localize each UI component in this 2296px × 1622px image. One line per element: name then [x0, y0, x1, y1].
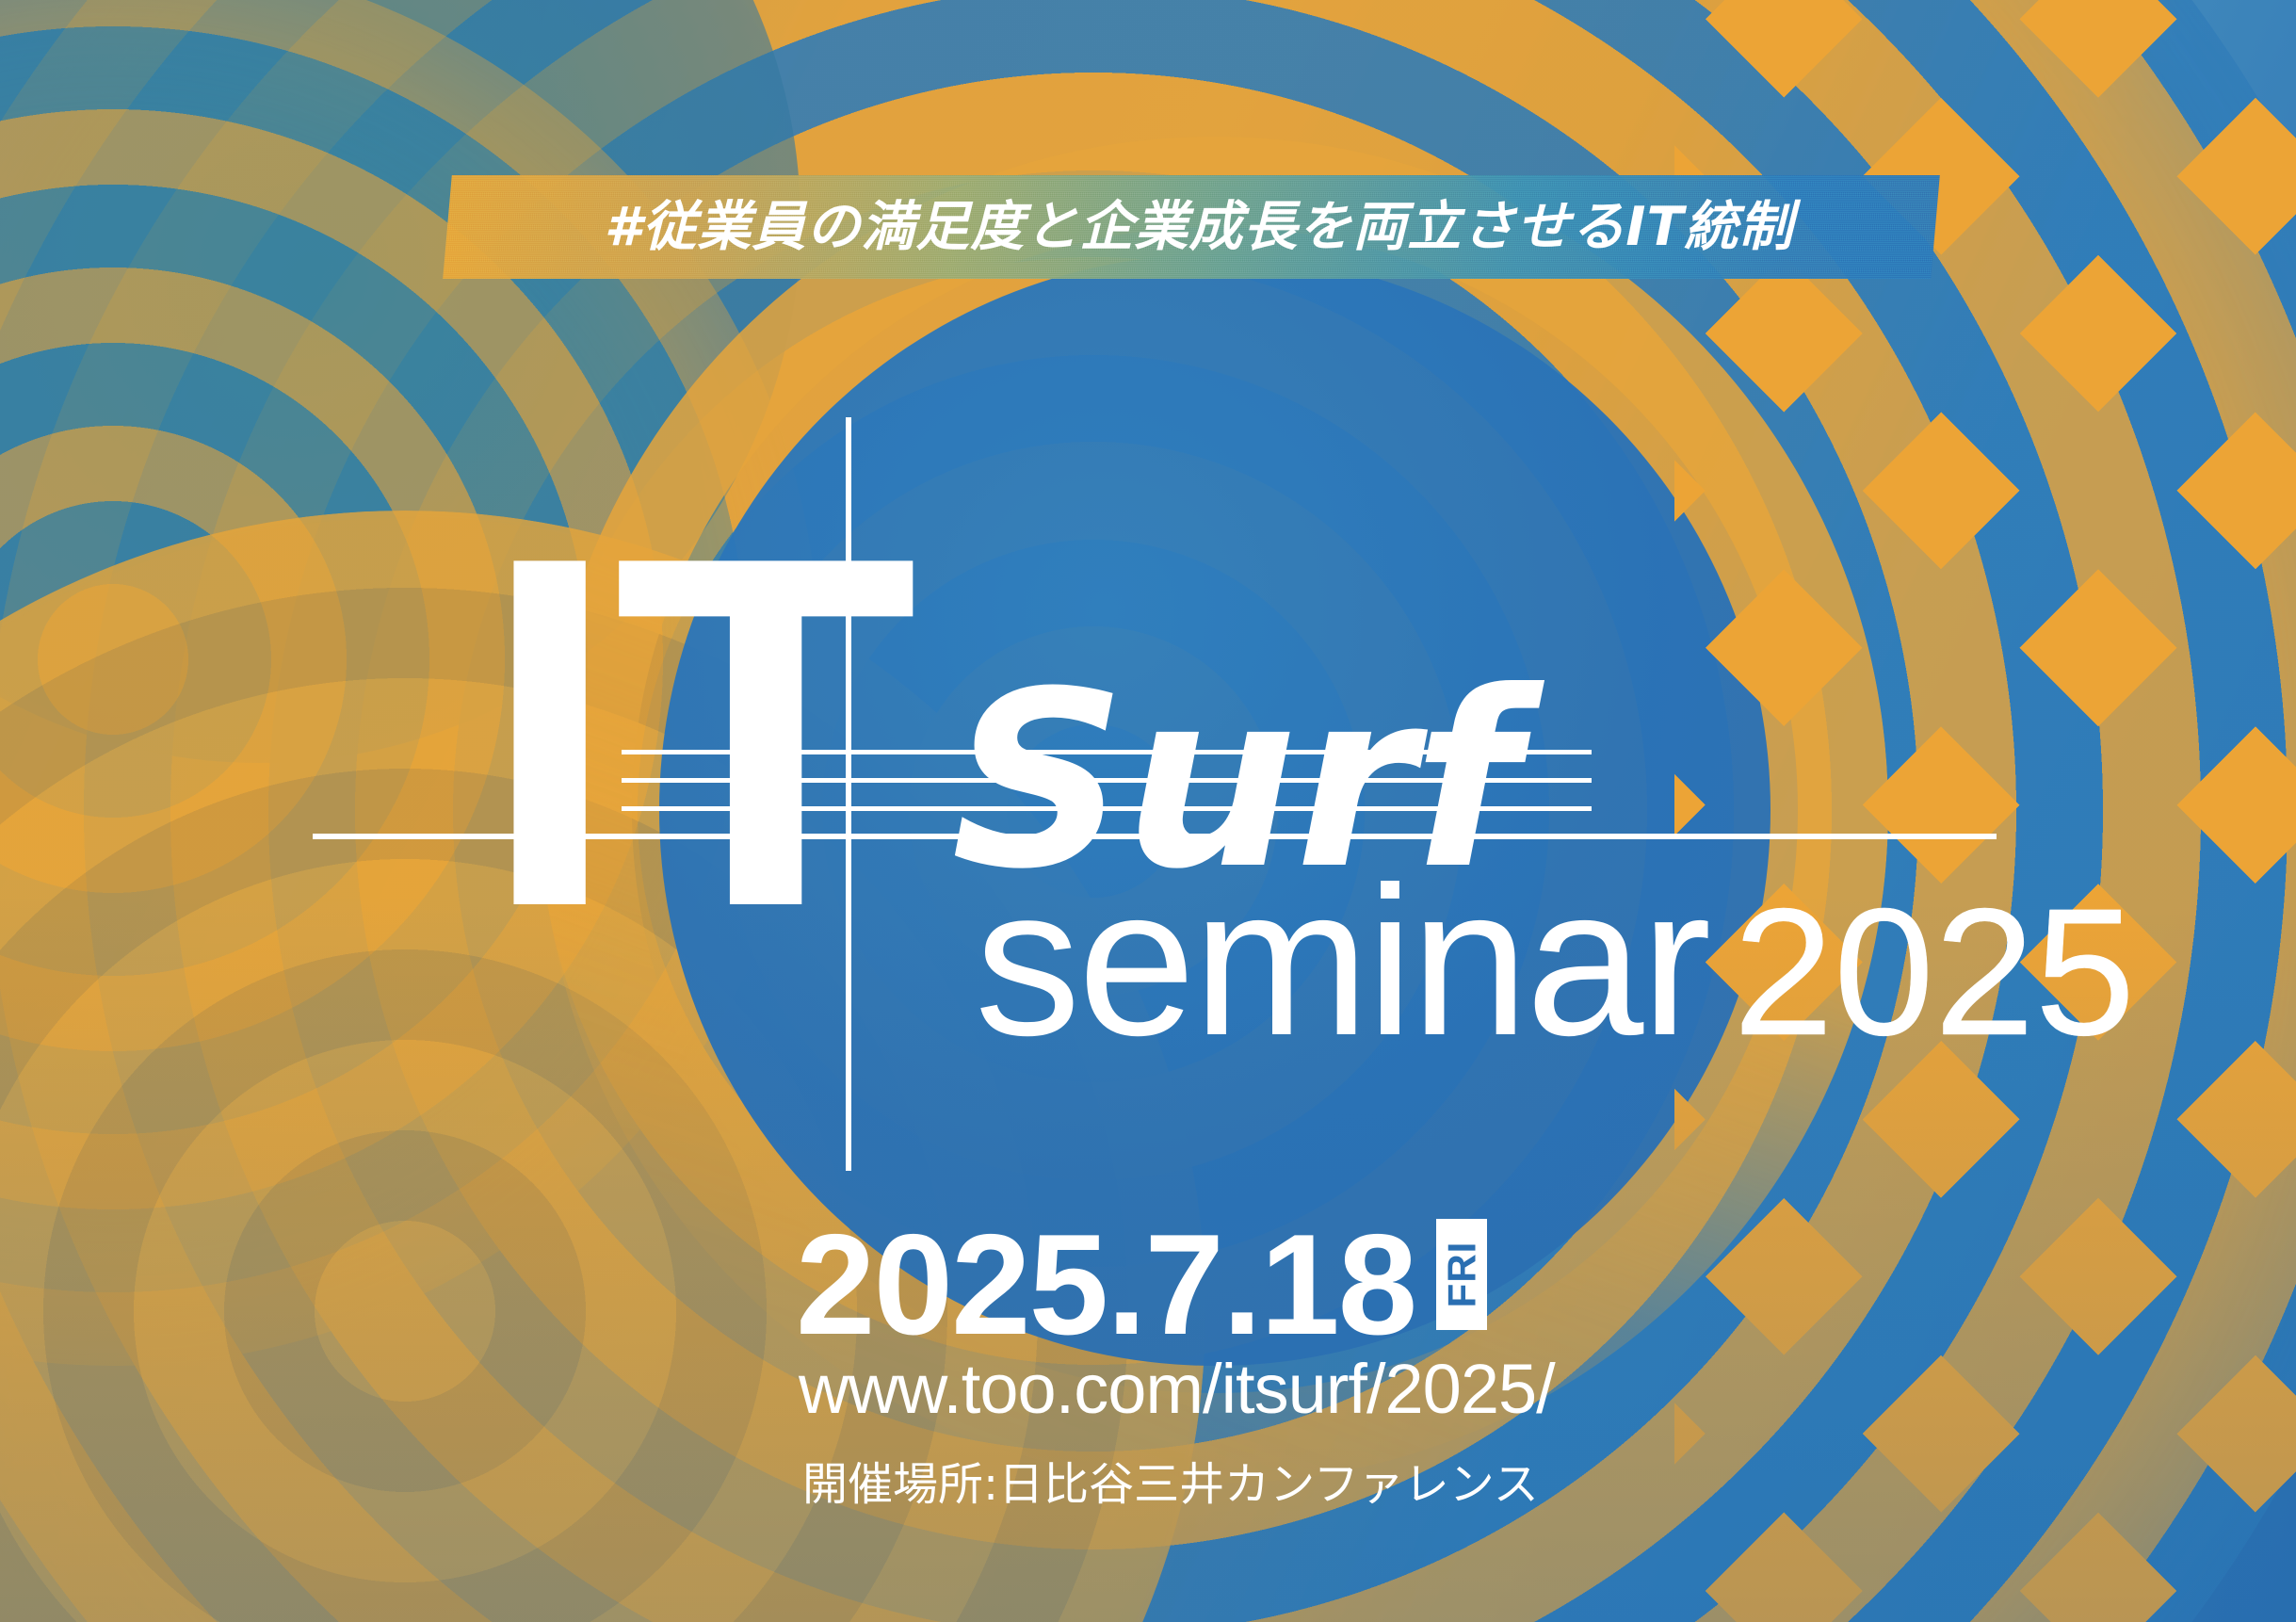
horizontal-rule [313, 834, 1997, 839]
event-venue: 開催場所:日比谷三井カンファレンス [802, 1462, 1539, 1507]
staff-line-2 [622, 778, 1592, 783]
staff-lines [622, 750, 1592, 844]
logo-seminar-line: seminar2025 [975, 855, 2135, 1067]
logo-it-text: IT [480, 527, 913, 937]
logo-seminar-text: seminar [975, 842, 1708, 1079]
staff-line-3 [622, 806, 1592, 811]
event-url[interactable]: www.too.com/itsurf/2025/ [799, 1354, 1555, 1424]
weekday-badge: FRI [1436, 1219, 1487, 1330]
staff-line-1 [622, 750, 1592, 754]
event-date-row: 2025.7.18 FRI [796, 1213, 1487, 1356]
event-date-text: 2025.7.18 [796, 1213, 1415, 1356]
logo-year-text: 2025 [1733, 870, 2135, 1073]
event-poster: #従業員の満足度と企業成長を両立させるIT統制 IT Surf seminar2… [0, 0, 2296, 1622]
weekday-badge-label: FRI [1439, 1241, 1484, 1308]
tagline-text: #従業員の満足度と企業成長を両立させるIT統制 [478, 187, 1919, 268]
